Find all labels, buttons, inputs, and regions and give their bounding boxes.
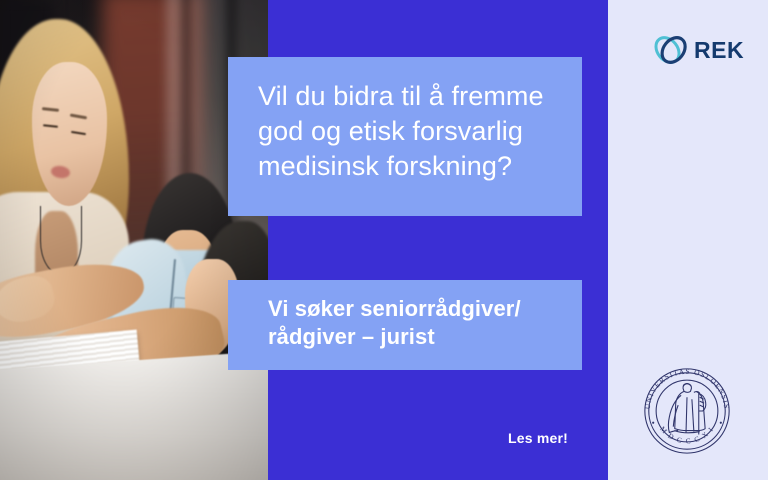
rek-recruitment-banner: Vil du bidra til å fremme god og etisk f… bbox=[0, 0, 768, 480]
uio-seal-icon: UNIVERSITAS OSLOENSIS M D C C C X I bbox=[638, 362, 736, 460]
rek-interlocking-rings-icon bbox=[650, 29, 692, 71]
headline-text: Vil du bidra til å fremme god og etisk f… bbox=[258, 79, 556, 184]
rek-wordmark: REK bbox=[694, 39, 744, 62]
read-more-link[interactable]: Les mer! bbox=[508, 430, 568, 446]
uio-seal: UNIVERSITAS OSLOENSIS M D C C C X I bbox=[638, 362, 736, 460]
rek-logo: REK bbox=[650, 28, 742, 72]
uio-seal-bottom-text: M D C C C X I bbox=[658, 425, 715, 445]
job-title-card: Vi søker seniorrådgiver/ rådgiver – juri… bbox=[228, 280, 582, 370]
headline-card: Vil du bidra til å fremme god og etisk f… bbox=[228, 57, 582, 216]
job-title-text: Vi søker seniorrådgiver/ rådgiver – juri… bbox=[268, 295, 562, 351]
